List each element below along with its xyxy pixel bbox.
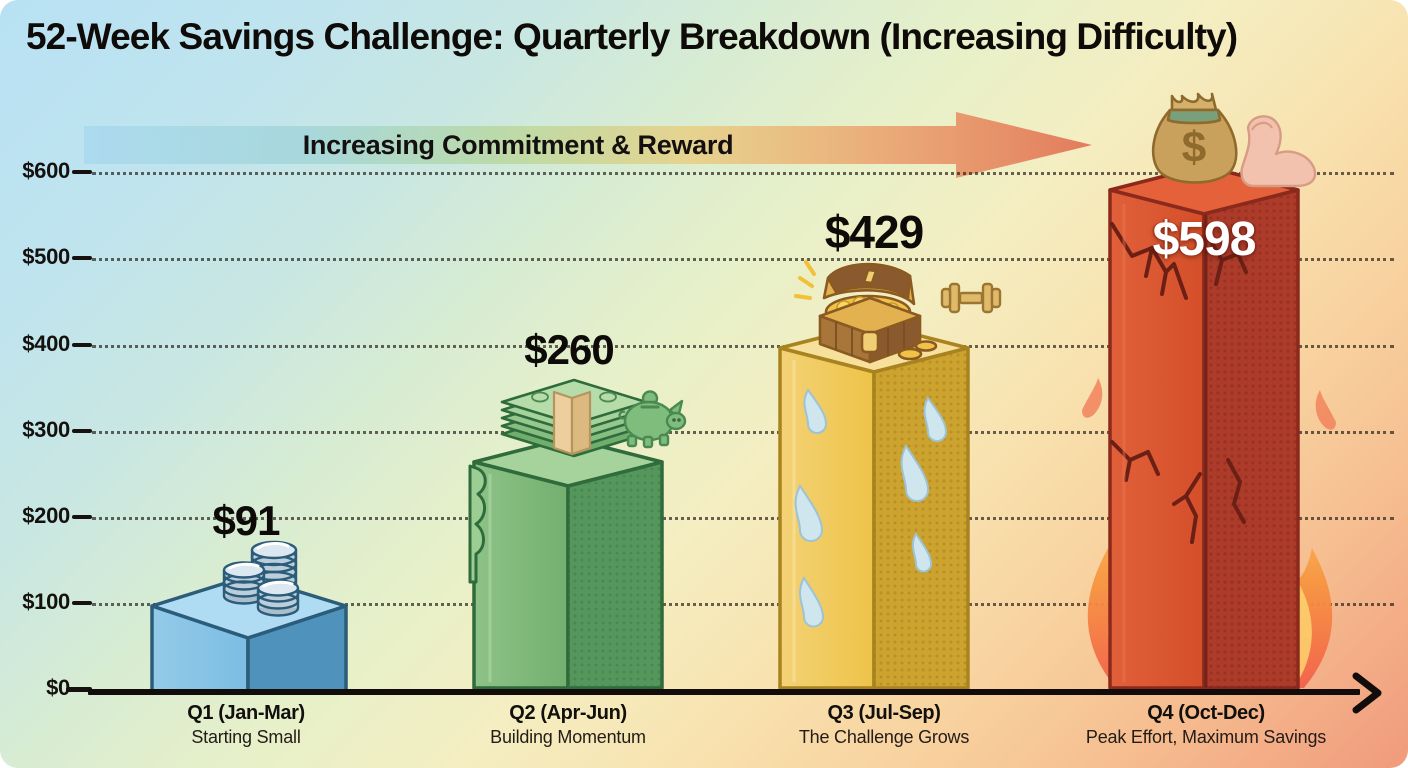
- xtick-title-q4: Q4 (Oct-Dec): [1056, 702, 1356, 725]
- money-bag-icon: $: [1148, 86, 1242, 186]
- xtick-label-q1: Q1 (Jan-Mar) Starting Small: [126, 702, 366, 749]
- ytick-dash-200: [72, 515, 92, 519]
- flexed-biceps-icon: [1238, 110, 1320, 188]
- bar-q2-value-label: $260: [484, 326, 654, 374]
- ytick-dash-600: [72, 170, 92, 174]
- xtick-label-q4: Q4 (Oct-Dec) Peak Effort, Maximum Saving…: [1056, 702, 1356, 749]
- ytick-label-600: $600: [0, 158, 70, 184]
- ytick-label-500: $500: [0, 244, 70, 270]
- xtick-sub-q3: The Challenge Grows: [764, 725, 1004, 749]
- sweat-drop-icon: [780, 382, 980, 652]
- ytick-label-100: $100: [0, 589, 70, 615]
- ytick-dash-300: [72, 429, 92, 433]
- xtick-sub-q1: Starting Small: [126, 725, 366, 749]
- ytick-label-400: $400: [0, 331, 70, 357]
- bar-q2-shape[interactable]: [468, 432, 668, 694]
- xtick-sub-q4: Peak Effort, Maximum Savings: [1056, 725, 1356, 749]
- bar-q1-value-label: $91: [166, 497, 326, 545]
- xtick-title-q1: Q1 (Jan-Mar): [126, 702, 366, 725]
- infographic-canvas: 52-Week Savings Challenge: Quarterly Bre…: [0, 0, 1408, 768]
- dumbbell-icon: [938, 276, 1004, 320]
- bar-q3-value-label: $429: [784, 205, 964, 259]
- bar-q4-value-label: $598: [1114, 212, 1294, 267]
- ytick-dash-100: [72, 601, 92, 605]
- piggy-bank-icon: [616, 388, 688, 448]
- xtick-label-q2: Q2 (Apr-Jun) Building Momentum: [448, 702, 688, 749]
- ytick-label-0: $0: [0, 675, 70, 701]
- ytick-label-200: $200: [0, 503, 70, 529]
- svg-text:$: $: [1182, 123, 1206, 172]
- ytick-dash-400: [72, 343, 92, 347]
- xtick-title-q3: Q3 (Jul-Sep): [764, 702, 1004, 725]
- xtick-label-q3: Q3 (Jul-Sep) The Challenge Grows: [764, 702, 1004, 749]
- ytick-dash-500: [72, 256, 92, 260]
- ytick-label-300: $300: [0, 417, 70, 443]
- xtick-title-q2: Q2 (Apr-Jun): [448, 702, 688, 725]
- x-axis-line: [88, 689, 1360, 695]
- xtick-sub-q2: Building Momentum: [448, 725, 688, 749]
- treasure-chest-icon: [806, 258, 934, 370]
